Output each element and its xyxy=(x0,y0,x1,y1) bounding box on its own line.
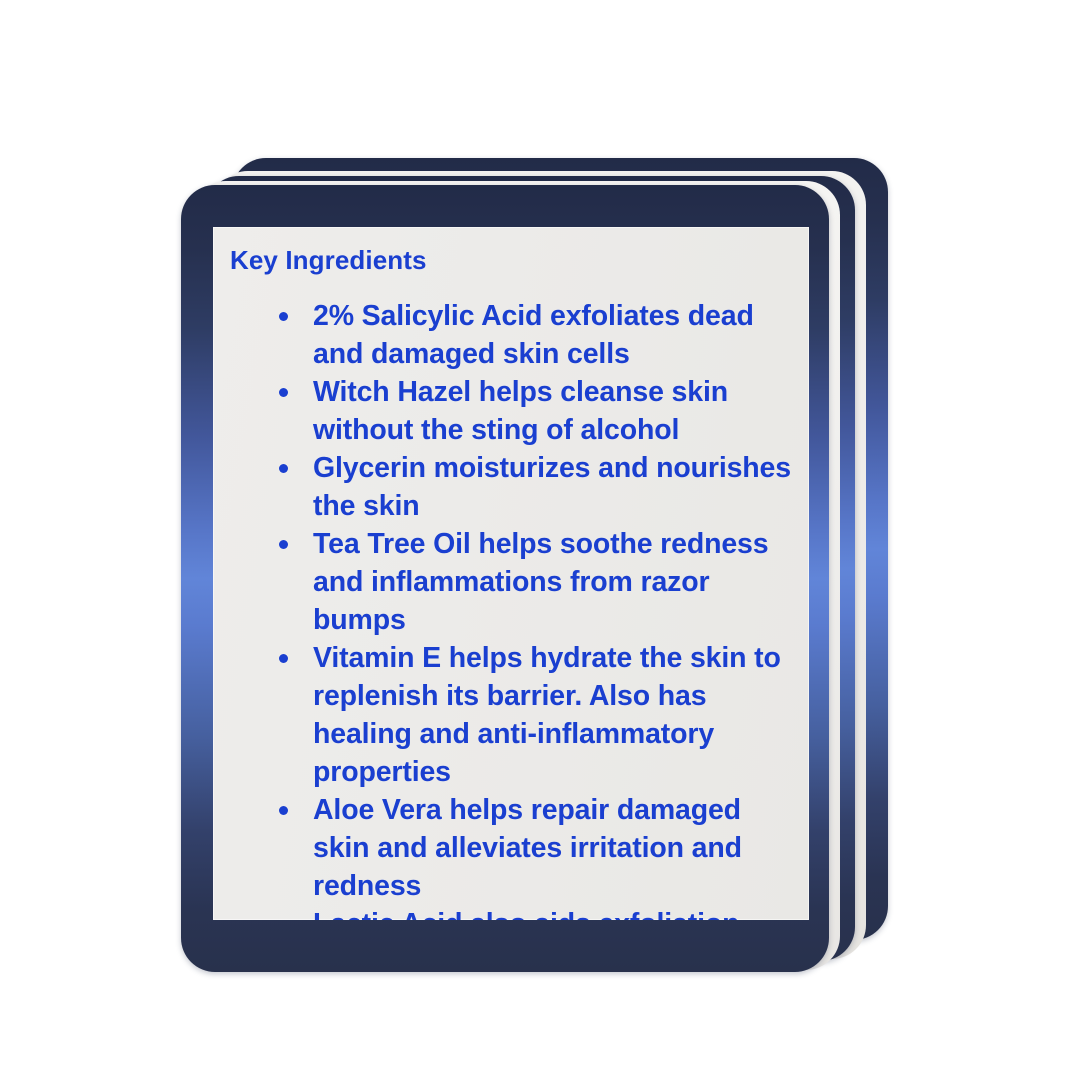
list-item-label: Aloe Vera helps repair damaged skin and … xyxy=(313,794,742,902)
list-item: Vitamin E helps hydrate the skin to repl… xyxy=(213,639,809,791)
content-panel: Key Ingredients 2% Salicylic Acid exfoli… xyxy=(213,227,809,920)
list-item: Glycerin moisturizes and nourishes the s… xyxy=(213,449,809,525)
page-title: Key Ingredients xyxy=(230,245,427,276)
list-item: Witch Hazel helps cleanse skin without t… xyxy=(213,373,809,449)
list-item-label: Lactic Acid also aids exfoliation xyxy=(313,908,739,920)
list-item: Lactic Acid also aids exfoliation xyxy=(213,905,809,920)
slide-canvas: Key Ingredients 2% Salicylic Acid exfoli… xyxy=(0,0,1080,1080)
bullet-icon xyxy=(279,540,288,549)
bullet-icon xyxy=(279,312,288,321)
bullet-icon xyxy=(279,654,288,663)
bullet-icon xyxy=(279,464,288,473)
bullet-icon xyxy=(279,806,288,815)
bullet-icon xyxy=(279,388,288,397)
list-item-label: 2% Salicylic Acid exfoliates dead and da… xyxy=(313,300,754,370)
list-item-label: Witch Hazel helps cleanse skin without t… xyxy=(313,376,728,446)
list-item-label: Tea Tree Oil helps soothe redness and in… xyxy=(313,528,768,636)
list-item-label: Vitamin E helps hydrate the skin to repl… xyxy=(313,642,781,788)
list-item-label: Glycerin moisturizes and nourishes the s… xyxy=(313,452,791,522)
ingredient-list: 2% Salicylic Acid exfoliates dead and da… xyxy=(213,297,809,920)
list-item: Aloe Vera helps repair damaged skin and … xyxy=(213,791,809,905)
list-item: Tea Tree Oil helps soothe redness and in… xyxy=(213,525,809,639)
list-item: 2% Salicylic Acid exfoliates dead and da… xyxy=(213,297,809,373)
